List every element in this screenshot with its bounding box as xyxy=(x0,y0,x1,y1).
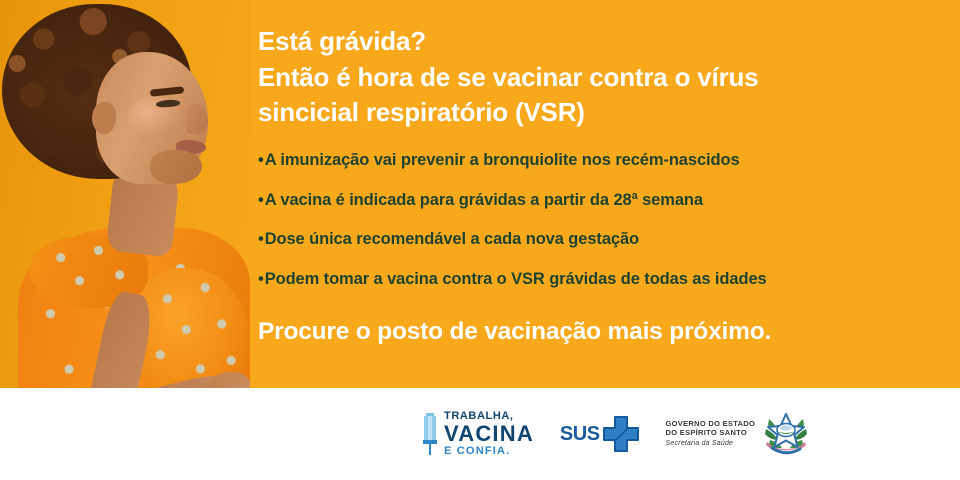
bullet-marker-icon: • xyxy=(258,270,264,290)
headline: Está grávida? Então é hora de se vacinar… xyxy=(258,0,948,131)
benefits-list: •A imunização vai prevenir a bronquiolit… xyxy=(258,131,948,290)
list-item-label: A imunização vai prevenir a bronquiolite… xyxy=(265,151,740,169)
campaign-content: Está grávida? Então é hora de se vacinar… xyxy=(258,0,948,346)
call-to-action-text: Procure o posto de vacinação mais próxim… xyxy=(258,310,948,346)
bullet-marker-icon: • xyxy=(258,191,264,211)
footer-bar: TRABALHA, VACINA E CONFIA. SUS GOVERNO D… xyxy=(0,388,960,480)
sus-logo: SUS xyxy=(560,415,640,453)
nose-shape xyxy=(186,104,208,134)
sus-wordmark: SUS xyxy=(560,423,600,446)
bullet-marker-icon: • xyxy=(258,230,264,250)
list-item: •A vacina é indicada para grávidas a par… xyxy=(258,191,948,211)
logo-row: TRABALHA, VACINA E CONFIA. SUS GOVERNO D… xyxy=(420,388,809,480)
tvc-line-3: E CONFIA. xyxy=(444,446,534,457)
government-line-1: GOVERNO DO ESTADO xyxy=(666,419,756,428)
list-item-label: Podem tomar a vacina contra o VSR grávid… xyxy=(265,270,767,288)
list-item-label: A vacina é indicada para grávidas a part… xyxy=(265,191,703,209)
headline-line-3: sincicial respiratório (VSR) xyxy=(258,95,948,131)
list-item: •A imunização vai prevenir a bronquiolit… xyxy=(258,151,948,171)
government-line-2: DO ESPÍRITO SANTO xyxy=(666,428,756,437)
headline-line-1: Está grávida? xyxy=(258,24,948,60)
government-line-3: Secretaria da Saúde xyxy=(666,440,756,449)
vaccination-campaign-banner: Está grávida? Então é hora de se vacinar… xyxy=(0,0,960,480)
tvc-wordmark: TRABALHA, VACINA E CONFIA. xyxy=(444,411,534,457)
list-item: •Dose única recomendável a cada nova ges… xyxy=(258,230,948,250)
list-item: •Podem tomar a vacina contra o VSR grávi… xyxy=(258,270,948,290)
government-logo: GOVERNO DO ESTADO DO ESPÍRITO SANTO Secr… xyxy=(666,409,810,459)
ear-shape xyxy=(92,102,116,134)
government-wordmark: GOVERNO DO ESTADO DO ESPÍRITO SANTO Secr… xyxy=(666,419,756,449)
tvc-line-2: VACINA xyxy=(444,423,534,445)
espirito-santo-coat-of-arms-icon xyxy=(763,409,809,459)
sus-cross-icon xyxy=(602,415,640,453)
syringe-icon xyxy=(420,413,440,455)
headline-line-2: Então é hora de se vacinar contra o víru… xyxy=(258,60,948,96)
list-item-label: Dose única recomendável a cada nova gest… xyxy=(265,230,639,248)
bullet-marker-icon: • xyxy=(258,151,264,171)
trabalha-vacina-confia-logo: TRABALHA, VACINA E CONFIA. xyxy=(420,411,534,457)
